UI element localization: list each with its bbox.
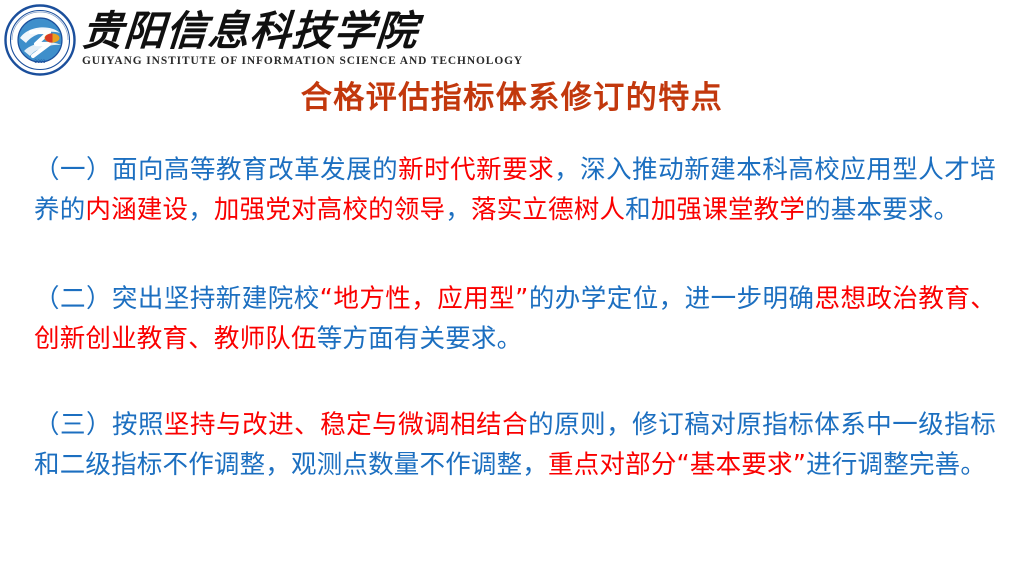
text-run-highlight: 加强党对高校的领导 (214, 195, 445, 225)
text-run-normal: 等方面有关要求。 (317, 324, 523, 354)
paragraph-two: （二）突出坚持新建院校“地方性，应用型”的办学定位，进一步明确思想政治教育、创新… (34, 279, 996, 360)
text-run-normal: （三）按照 (34, 410, 164, 440)
text-run-highlight: 加强课堂教学 (651, 195, 805, 225)
logo-year-label: 2001 (34, 59, 45, 65)
text-run-highlight: 落实立德树人 (471, 195, 625, 225)
text-run-highlight: 重点对部分“基本要求” (548, 450, 806, 480)
text-run-normal: 的基本要求。 (805, 195, 959, 225)
university-seal-icon: 2001 (4, 4, 76, 76)
text-run-normal: （二）突出坚持新建院校 (34, 284, 320, 314)
text-run-highlight: 坚持与改进、稳定与微调相结合 (164, 410, 528, 440)
text-run-highlight: 新时代新要求 (398, 155, 554, 185)
university-name-cn: 贵阳信息科技学院 (81, 11, 516, 52)
text-run-normal: ， (445, 195, 471, 225)
text-run-normal: 和 (625, 195, 651, 225)
slide-header: 2001 贵阳信息科技学院 GUIYANG INSTITUTE OF INFOR… (0, 0, 1024, 78)
text-run-normal: （一）面向高等教育改革发展的 (34, 155, 398, 185)
slide-body: （一）面向高等教育改革发展的新时代新要求，深入推动新建本科高校应用型人才培养的内… (34, 124, 996, 511)
text-run-highlight: 内涵建设 (85, 195, 188, 225)
brand-wordmark: 贵阳信息科技学院 GUIYANG INSTITUTE OF INFORMATIO… (82, 11, 514, 67)
paragraph-three: （三）按照坚持与改进、稳定与微调相结合的原则，修订稿对原指标体系中一级指标和二级… (34, 405, 996, 486)
paragraph-one: （一）面向高等教育改革发展的新时代新要求，深入推动新建本科高校应用型人才培养的内… (34, 150, 996, 231)
slide-title: 合格评估指标体系修订的特点 (0, 80, 1024, 117)
text-run-highlight: “地方性，应用型” (320, 284, 529, 314)
presentation-slide: 2001 贵阳信息科技学院 GUIYANG INSTITUTE OF INFOR… (0, 0, 1024, 576)
text-run-normal: 进行调整完善。 (806, 450, 986, 480)
text-run-normal: 的办学定位，进一步明确 (529, 284, 815, 314)
university-name-en: GUIYANG INSTITUTE OF INFORMATION SCIENCE… (82, 56, 523, 67)
text-run-normal: ， (188, 195, 214, 225)
